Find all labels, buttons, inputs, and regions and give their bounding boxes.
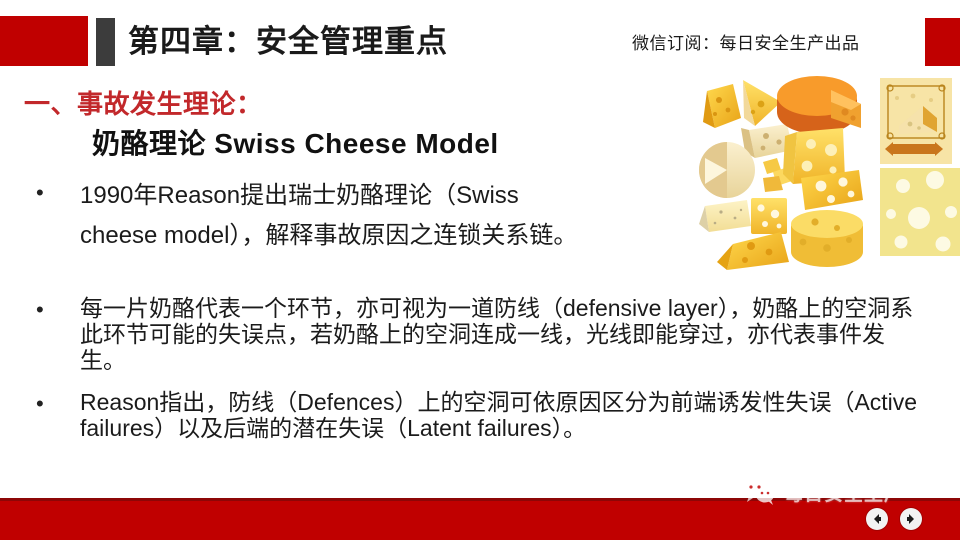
list-item: • Reason指出，防线（Defences）上的空洞可依原因区分为前端诱发性失… xyxy=(36,389,926,441)
header-red-block-left xyxy=(0,16,88,66)
slide: 第四章：安全管理重点 微信订阅：每日安全生产出品 一、事故发生理论： 奶酪理论 … xyxy=(0,0,960,540)
cheese-wedge-small xyxy=(703,84,741,128)
list-item-text: 每一片奶酪代表一个环节，亦可视为一道防线（defensive layer），奶酪… xyxy=(80,295,926,373)
cheese-triangle xyxy=(743,80,781,126)
section-heading-secondary: 奶酪理论 Swiss Cheese Model xyxy=(92,122,499,162)
section-heading-primary: 一、事故发生理论： xyxy=(24,84,263,121)
prev-slide-button[interactable] xyxy=(866,508,888,530)
list-item: • 每一片奶酪代表一个环节，亦可视为一道防线（defensive layer），… xyxy=(36,295,926,373)
bullet-marker-icon: • xyxy=(36,299,44,321)
header-gray-accent-bar xyxy=(96,18,115,66)
bullet-marker-icon: • xyxy=(36,182,44,204)
cheese-wedge-crumbly xyxy=(699,200,751,232)
arrow-left-icon xyxy=(871,513,883,525)
list-item-text: Reason指出，防线（Defences）上的空洞可依原因区分为前端诱发性失误（… xyxy=(80,389,926,441)
cheese-round-pale xyxy=(699,142,755,198)
cheese-cylinder-holed xyxy=(791,210,863,267)
next-slide-button[interactable] xyxy=(900,508,922,530)
subscription-label: 微信订阅：每日安全生产出品 xyxy=(632,29,860,54)
wechat-icon xyxy=(742,478,776,506)
watermark-label: 每日安全生产 xyxy=(784,479,904,506)
watermark: 每日安全生产 xyxy=(742,474,942,510)
cheese-emmental-slab xyxy=(880,168,960,256)
list-item-text: 1990年Reason提出瑞士奶酪理论（Swiss cheese model），… xyxy=(80,176,596,256)
header-red-block-right xyxy=(925,18,960,66)
list-item: • 1990年Reason提出瑞士奶酪理论（Swiss cheese model… xyxy=(36,176,596,256)
bullet-marker-icon: • xyxy=(36,393,44,415)
cheese-collage-image xyxy=(645,66,960,288)
slide-navigation xyxy=(866,508,922,530)
cheese-poster-framed xyxy=(880,78,952,164)
arrow-right-icon xyxy=(905,513,917,525)
cheese-triangle-bottom xyxy=(717,232,789,270)
cheese-square-holed xyxy=(751,198,787,234)
chapter-title: 第四章：安全管理重点 xyxy=(128,19,448,65)
cheese-wheel-orange xyxy=(777,76,861,134)
